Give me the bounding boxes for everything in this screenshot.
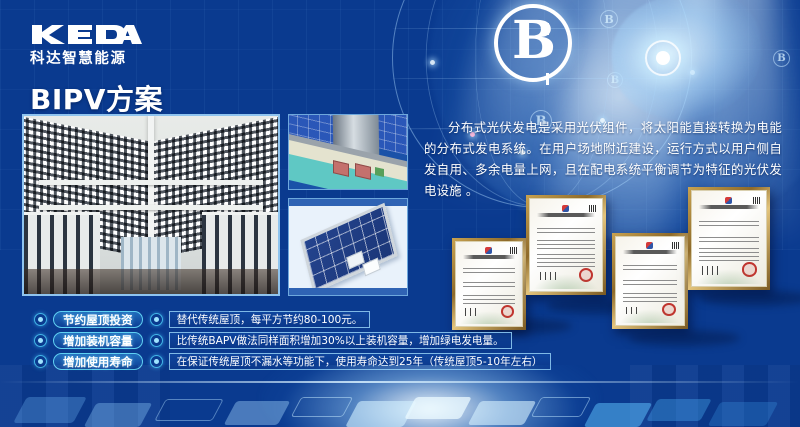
certificate-text-block [537, 254, 595, 267]
keda-wordmark-icon [30, 24, 148, 45]
feature-desc: 替代传统屋顶，每平方节约80-100元。 [169, 311, 371, 328]
feature-tag: 节约屋顶投资 [53, 311, 143, 328]
certificate-text-block [623, 277, 677, 285]
floor-shadow [24, 269, 278, 294]
rhombus-shape [404, 397, 472, 419]
rhombus-shape [531, 397, 592, 417]
certificate-page [529, 198, 603, 292]
certificate-frame [612, 233, 688, 329]
diagram-bottom-strip [289, 288, 408, 295]
certificate-text-block [623, 262, 677, 270]
certificate-text-block [623, 290, 677, 302]
feature-tag: 增加装机容量 [53, 332, 143, 349]
rhombus-shape [291, 397, 354, 417]
atrium-photo [22, 114, 280, 296]
qr-code-icon [672, 242, 679, 249]
feature-row: 节约屋顶投资 替代传统屋顶，每平方节约80-100元。 [34, 309, 454, 330]
bullet-ring-icon [150, 313, 163, 326]
certificate-text-block [699, 248, 758, 261]
poster-canvas: B B B B B 科达智慧能源 BIPV方案 [0, 0, 800, 427]
certificate-page [455, 241, 523, 327]
certificate-text-block [537, 225, 595, 233]
certificate-title-bar [623, 250, 677, 254]
qr-code-icon [510, 247, 517, 254]
certificate-text-block [699, 218, 758, 227]
qr-code-icon [753, 197, 760, 205]
roof-beam [39, 205, 263, 210]
certificate-ornament [459, 311, 520, 324]
pv-module [300, 203, 397, 294]
roof-beam [39, 180, 263, 185]
mounting-detail-diagram [288, 114, 408, 190]
certificate-text-block [463, 266, 516, 274]
certificate-frame [688, 187, 770, 290]
diagram-top-strip [289, 199, 408, 206]
certificate-title-bar [537, 213, 595, 217]
brand-logo: 科达智慧能源 [30, 24, 148, 68]
certificate-page [615, 236, 685, 326]
network-node [430, 60, 435, 65]
feature-row: 增加装机容量 比传统BAPV做法同样面积增加30%以上装机容量，增加绿电发电量。 [34, 330, 454, 351]
certificate-shadow [628, 330, 740, 346]
certificate-text-block [463, 292, 516, 304]
bottom-decoration [0, 365, 800, 427]
certificate-text-block [699, 234, 758, 243]
rhombus-shape [154, 399, 224, 421]
certificate-text-block [463, 280, 516, 288]
certificate-title-bar [699, 205, 758, 209]
roof-ridge [148, 116, 154, 241]
feature-list: 节约屋顶投资 替代传统屋顶，每平方节约80-100元。 增加装机容量 比传统BA… [34, 309, 454, 372]
certificate-emblem-icon [646, 242, 653, 249]
brand-name-cn: 科达智慧能源 [30, 47, 148, 68]
certificate-frame [526, 195, 606, 295]
touch-point-icon [645, 40, 681, 76]
qr-code-icon [589, 205, 596, 212]
certificate-shadow [700, 290, 800, 306]
module-diagram [288, 198, 408, 296]
certificate-emblem-icon [485, 247, 492, 254]
certificate-ornament [619, 309, 682, 323]
certificate-text-block [537, 240, 595, 248]
certificate-ornament [533, 274, 599, 289]
certificate-emblem-icon [562, 205, 569, 212]
certificate-ornament [695, 269, 763, 284]
atrium-scene [24, 116, 278, 294]
bitcoin-small-icon: B [600, 10, 618, 28]
certificate-emblem-icon [725, 197, 732, 205]
bullet-ring-icon [34, 313, 47, 326]
certificate-title-bar [463, 255, 516, 259]
horizon-line [0, 381, 800, 383]
bitcoin-small-icon: B [773, 50, 790, 67]
certificate-page [691, 190, 767, 287]
page-title: BIPV方案 [30, 78, 163, 118]
feature-desc: 比传统BAPV做法同样面积增加30%以上装机容量，增加绿电发电量。 [169, 332, 512, 349]
bullet-ring-icon [34, 334, 47, 347]
bitcoin-logo-icon: B [494, 4, 572, 82]
bullet-ring-icon [150, 334, 163, 347]
certificate-frame [452, 238, 526, 330]
